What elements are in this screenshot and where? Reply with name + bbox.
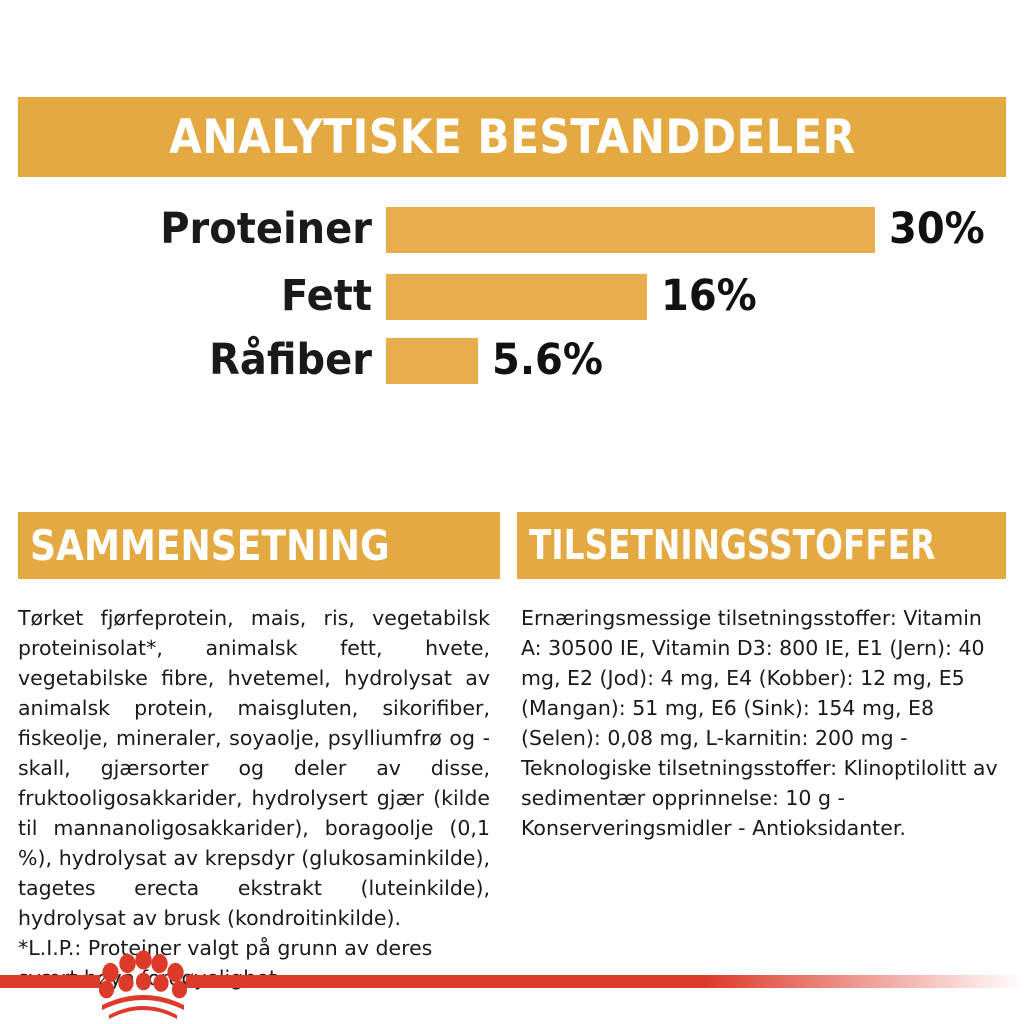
- analytical-constituents-header: ANALYTISKE BESTANDDELER: [18, 97, 1006, 177]
- footer-rule-left: [0, 975, 100, 988]
- analytical-constituents-title: ANALYTISKE BESTANDDELER: [169, 110, 856, 165]
- chart-row: Råfiber 5.6%: [0, 333, 1024, 388]
- composition-header: SAMMENSETNING: [18, 512, 500, 579]
- composition-body: Tørket fjørfeprotein, mais, ris, vegetab…: [18, 603, 490, 993]
- bar-label-fat: Fett: [26, 275, 372, 318]
- chart-row: Fett 16%: [0, 269, 1024, 324]
- additives-paragraph: Ernæringsmessige tilsetningsstoffer: Vit…: [521, 603, 999, 843]
- bar-label-protein: Proteiner: [26, 208, 372, 251]
- additives-header: TILSETNINGSSTOFFER (pr. kg): [517, 512, 1006, 579]
- composition-paragraph: Tørket fjørfeprotein, mais, ris, vegetab…: [18, 603, 490, 933]
- brand-footer: [0, 955, 1024, 1024]
- footer-rule-right: [186, 975, 1024, 988]
- bar-track-fat: 16%: [386, 269, 1024, 324]
- additives-header-label: TILSETNINGSSTOFFER: [529, 525, 935, 566]
- bar-value-fiber: 5.6%: [492, 339, 603, 382]
- bar-track-protein: 30%: [386, 202, 1024, 257]
- bar-label-fiber: Råfiber: [26, 339, 372, 382]
- bar-fill-fiber: [386, 338, 478, 384]
- bar-fill-protein: [386, 207, 875, 253]
- additives-body: Ernæringsmessige tilsetningsstoffer: Vit…: [521, 603, 999, 843]
- nutrition-bar-chart: Proteiner 30% Fett 16% Råfiber 5.6%: [0, 196, 1024, 396]
- bar-fill-fat: [386, 274, 647, 320]
- chart-row: Proteiner 30%: [0, 202, 1024, 257]
- royal-canin-crown-icon: [96, 947, 188, 1019]
- bar-track-fiber: 5.6%: [386, 333, 1024, 388]
- composition-header-label: SAMMENSETNING: [30, 525, 390, 567]
- bar-value-protein: 30%: [889, 208, 985, 251]
- bar-value-fat: 16%: [661, 275, 757, 318]
